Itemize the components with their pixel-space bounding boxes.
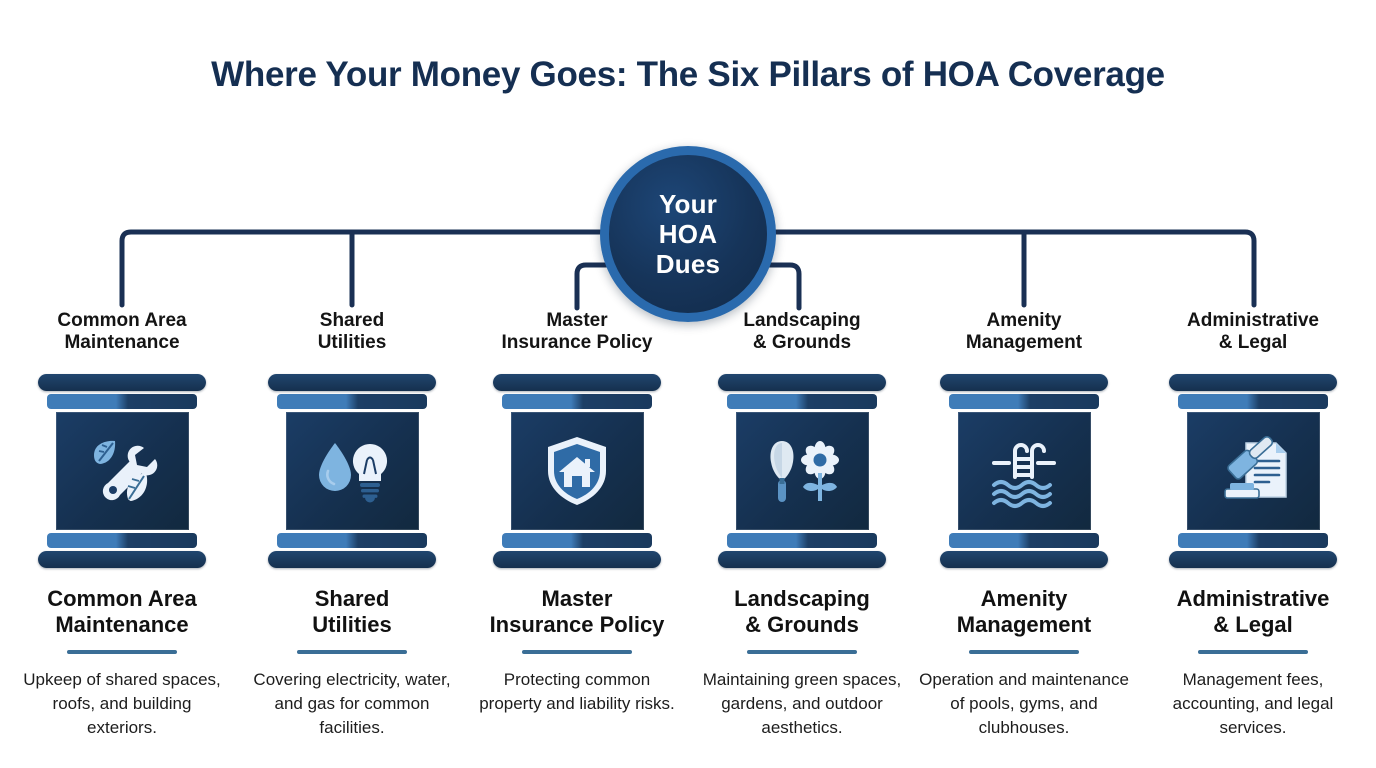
- pillar-bottom-block: Master Insurance Policy Protecting commo…: [464, 586, 690, 716]
- pillar-bottom-block: Amenity Management Operation and mainten…: [911, 586, 1137, 739]
- pillar-graphic: [38, 374, 206, 568]
- pillar-base-bottom: [940, 551, 1108, 568]
- pillar-cap-top: [940, 374, 1108, 391]
- pillar-base-band: [502, 533, 652, 548]
- pillar-top-label-line1: Administrative: [1140, 310, 1366, 332]
- pillar-column-amenity-management: Amenity Management: [911, 310, 1137, 739]
- pillar-heading: Common Area Maintenance: [9, 586, 235, 640]
- pillar-heading-line1: Shared: [239, 586, 465, 612]
- pillar-column-administrative-legal: Administrative & Legal: [1140, 310, 1366, 739]
- pillar-base-bottom: [493, 551, 661, 568]
- pillar-top-label-line2: Utilities: [239, 332, 465, 354]
- pillar-cap-top: [1169, 374, 1337, 391]
- pillar-graphic: [268, 374, 436, 568]
- pillar-description: Maintaining green spaces, gardens, and o…: [689, 668, 915, 739]
- pillar-top-label: Master Insurance Policy: [464, 310, 690, 358]
- pillar-divider: [67, 650, 177, 654]
- pillar-cap-band: [502, 394, 652, 409]
- pillar-body: [286, 412, 419, 530]
- pillar-cap-top: [493, 374, 661, 391]
- wrench-leaf-icon: [80, 429, 164, 513]
- pillar-column-common-area-maintenance: Common Area Maintenance: [9, 310, 235, 739]
- pillar-top-label: Administrative & Legal: [1140, 310, 1366, 358]
- shield-house-icon: [535, 429, 619, 513]
- pillar-description: Upkeep of shared spaces, roofs, and buil…: [9, 668, 235, 739]
- pillar-cap-band: [277, 394, 427, 409]
- pillar-cap-top: [38, 374, 206, 391]
- pillar-graphic: [718, 374, 886, 568]
- pillar-heading-line2: Maintenance: [9, 612, 235, 638]
- pillar-divider: [969, 650, 1079, 654]
- hub-label-line3: Dues: [656, 249, 720, 279]
- pillar-graphic: [1169, 374, 1337, 568]
- pillar-top-label-line1: Master: [464, 310, 690, 332]
- pillar-base-bottom: [1169, 551, 1337, 568]
- pillar-body: [56, 412, 189, 530]
- pillar-bottom-block: Common Area Maintenance Upkeep of shared…: [9, 586, 235, 739]
- pillar-heading-line2: Utilities: [239, 612, 465, 638]
- trowel-flower-icon: [760, 429, 844, 513]
- pillar-heading-line1: Common Area: [9, 586, 235, 612]
- pillar-divider: [747, 650, 857, 654]
- connector-trunk-left: [122, 232, 600, 305]
- pillar-graphic: [940, 374, 1108, 568]
- pillar-heading: Shared Utilities: [239, 586, 465, 640]
- pillar-top-label-line2: Maintenance: [9, 332, 235, 354]
- pillar-heading: Landscaping & Grounds: [689, 586, 915, 640]
- pillar-base-band: [277, 533, 427, 548]
- pillar-heading: Amenity Management: [911, 586, 1137, 640]
- water-drop-lightbulb-icon: [310, 429, 394, 513]
- pillar-base-bottom: [268, 551, 436, 568]
- pillar-description: Management fees, accounting, and legal s…: [1140, 668, 1366, 739]
- pillar-top-label: Common Area Maintenance: [9, 310, 235, 358]
- hub-label-line2: HOA: [659, 219, 717, 249]
- pillar-top-label-line1: Common Area: [9, 310, 235, 332]
- pillar-heading-line1: Administrative: [1140, 586, 1366, 612]
- pillar-top-label: Amenity Management: [911, 310, 1137, 358]
- pillar-top-label-line2: Management: [911, 332, 1137, 354]
- pillar-top-label-line2: & Legal: [1140, 332, 1366, 354]
- pillar-description: Covering electricity, water, and gas for…: [239, 668, 465, 739]
- hub-your-hoa-dues: Your HOA Dues: [600, 146, 776, 322]
- pillar-column-landscaping-grounds: Landscaping & Grounds: [689, 310, 915, 739]
- pillar-top-label-line1: Amenity: [911, 310, 1137, 332]
- pillar-base-band: [1178, 533, 1328, 548]
- pillar-bottom-block: Administrative & Legal Management fees, …: [1140, 586, 1366, 739]
- pillar-heading-line2: Management: [911, 612, 1137, 638]
- pillar-divider: [522, 650, 632, 654]
- pillar-base-band: [949, 533, 1099, 548]
- hub-label-line1: Your: [659, 189, 717, 219]
- gavel-document-icon: [1211, 429, 1295, 513]
- pillar-cap-band: [1178, 394, 1328, 409]
- pillar-cap-top: [268, 374, 436, 391]
- pillar-body: [736, 412, 869, 530]
- pillar-top-label: Shared Utilities: [239, 310, 465, 358]
- pillar-graphic: [493, 374, 661, 568]
- pillar-top-label-line2: & Grounds: [689, 332, 915, 354]
- pillar-bottom-block: Shared Utilities Covering electricity, w…: [239, 586, 465, 739]
- pillar-heading-line1: Master: [464, 586, 690, 612]
- page-title: Where Your Money Goes: The Six Pillars o…: [0, 55, 1376, 95]
- pillar-heading-line2: & Grounds: [689, 612, 915, 638]
- pool-ladder-icon: [982, 429, 1066, 513]
- pillar-column-master-insurance-policy: Master Insurance Policy Master Insurance…: [464, 310, 690, 716]
- pillar-description: Operation and maintenance of pools, gyms…: [911, 668, 1137, 739]
- pillar-heading: Master Insurance Policy: [464, 586, 690, 640]
- pillar-heading-line1: Landscaping: [689, 586, 915, 612]
- pillar-heading: Administrative & Legal: [1140, 586, 1366, 640]
- pillar-cap-band: [47, 394, 197, 409]
- pillar-top-label-line1: Landscaping: [689, 310, 915, 332]
- pillar-base-band: [47, 533, 197, 548]
- pillar-cap-top: [718, 374, 886, 391]
- pillar-base-bottom: [38, 551, 206, 568]
- pillar-heading-line2: Insurance Policy: [464, 612, 690, 638]
- pillar-description: Protecting common property and liability…: [464, 668, 690, 716]
- pillar-top-label: Landscaping & Grounds: [689, 310, 915, 358]
- pillar-cap-band: [949, 394, 1099, 409]
- pillar-base-band: [727, 533, 877, 548]
- pillar-top-label-line1: Shared: [239, 310, 465, 332]
- pillar-divider: [297, 650, 407, 654]
- pillar-base-bottom: [718, 551, 886, 568]
- pillar-column-shared-utilities: Shared Utilities Shar: [239, 310, 465, 739]
- pillar-divider: [1198, 650, 1308, 654]
- pillar-heading-line1: Amenity: [911, 586, 1137, 612]
- pillar-body: [1187, 412, 1320, 530]
- pillar-body: [511, 412, 644, 530]
- pillar-top-label-line2: Insurance Policy: [464, 332, 690, 354]
- connector-trunk-right: [776, 232, 1254, 305]
- pillar-bottom-block: Landscaping & Grounds Maintaining green …: [689, 586, 915, 739]
- pillar-body: [958, 412, 1091, 530]
- pillar-heading-line2: & Legal: [1140, 612, 1366, 638]
- pillar-cap-band: [727, 394, 877, 409]
